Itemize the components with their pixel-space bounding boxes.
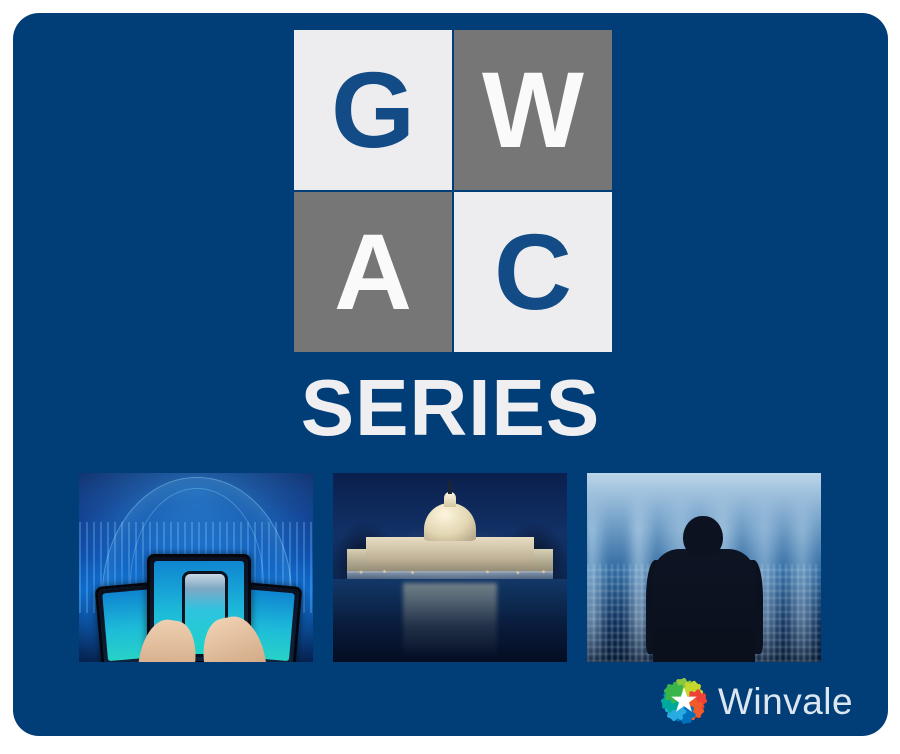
gwac-tile-a: A xyxy=(294,192,452,352)
promo-card: G W A C SERIES xyxy=(13,13,888,736)
capitol-spire xyxy=(448,481,451,494)
photo-strip xyxy=(79,473,823,662)
winvale-wordmark: Winvale xyxy=(718,683,853,720)
executive-head-silhouette xyxy=(683,516,723,556)
photo-us-capitol xyxy=(333,473,567,662)
gwac-letter-a: A xyxy=(334,218,412,326)
gwac-letter-w: W xyxy=(482,56,584,164)
gwac-tile-c: C xyxy=(454,192,612,352)
gwac-tile-w: W xyxy=(454,30,612,190)
winvale-logo: Winvale xyxy=(658,675,853,727)
photo-technology-devices xyxy=(79,473,313,662)
capitol-dome xyxy=(424,503,475,541)
gwac-letter-g: G xyxy=(331,56,415,164)
capitol-lantern xyxy=(444,492,457,507)
photo-business-executive xyxy=(587,473,821,662)
gwac-letter-c: C xyxy=(494,218,572,326)
gwac-tile-g: G xyxy=(294,30,452,190)
winvale-pinwheel-star-logo xyxy=(658,675,710,727)
gwac-acronym-grid: G W A C xyxy=(294,30,612,352)
capitol-reflection xyxy=(403,583,497,659)
headline-series: SERIES xyxy=(13,368,888,448)
capitol-lights-graphic xyxy=(333,562,567,579)
executive-torso-silhouette xyxy=(653,549,756,662)
